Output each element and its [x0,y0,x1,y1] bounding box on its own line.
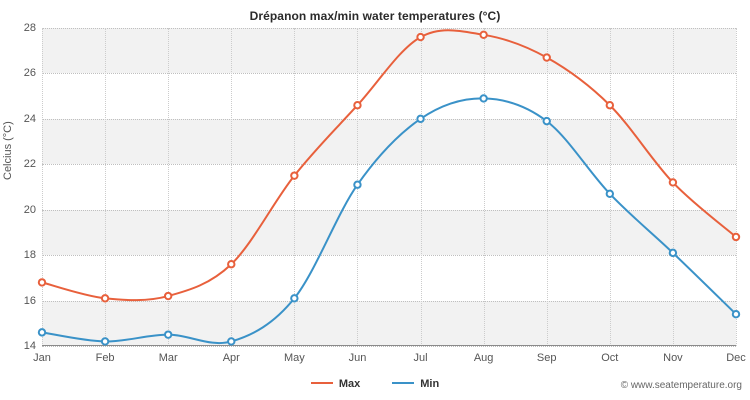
x-tick-label: May [284,352,305,364]
data-point[interactable] [733,311,739,317]
plot-area: 1416182022242628 JanFebMarAprMayJunJulAu… [42,28,736,346]
data-point[interactable] [354,102,360,108]
data-point[interactable] [102,295,108,301]
data-point[interactable] [354,182,360,188]
x-tick-label: Nov [663,352,683,364]
data-point[interactable] [544,54,550,60]
series-lines [42,28,736,346]
y-tick-label: 22 [24,158,36,170]
x-tick-label: Jun [349,352,367,364]
x-tick-label: Jul [414,352,428,364]
x-tick-label: Apr [223,352,240,364]
x-tick-label: Feb [96,352,115,364]
x-tick-label: Mar [159,352,178,364]
data-point[interactable] [291,172,297,178]
data-point[interactable] [607,191,613,197]
vertical-gridline [736,28,738,346]
data-point[interactable] [228,338,234,344]
data-point[interactable] [39,329,45,335]
legend-label: Max [339,378,360,390]
x-tick-label: Jan [33,352,51,364]
data-point[interactable] [291,295,297,301]
y-tick-label: 20 [24,204,36,216]
data-point[interactable] [670,250,676,256]
data-point[interactable] [39,279,45,285]
x-tick-label: Sep [537,352,557,364]
data-point[interactable] [544,118,550,124]
x-tick-label: Dec [726,352,746,364]
x-tick-label: Oct [601,352,618,364]
data-point[interactable] [165,293,171,299]
y-tick-label: 24 [24,113,36,125]
y-tick-label: 18 [24,249,36,261]
y-tick-label: 16 [24,295,36,307]
legend-swatch-icon [392,382,414,384]
data-point[interactable] [480,95,486,101]
legend-swatch-icon [311,382,333,384]
legend-item-max[interactable]: Max [311,378,360,390]
series-line-min [42,98,736,343]
legend-item-min[interactable]: Min [392,378,439,390]
y-tick-label: 14 [24,340,36,352]
data-point[interactable] [480,32,486,38]
y-tick-label: 28 [24,22,36,34]
series-line-max [42,30,736,300]
chart-container: Drépanon max/min water temperatures (°C)… [0,0,750,400]
data-point[interactable] [733,234,739,240]
gridline [42,346,736,348]
y-axis-label: Celcius (°C) [2,121,14,180]
y-tick-label: 26 [24,67,36,79]
credit-text: © www.seatemperature.org [621,380,742,391]
data-point[interactable] [228,261,234,267]
legend-label: Min [420,378,439,390]
chart-title: Drépanon max/min water temperatures (°C) [0,9,750,23]
data-point[interactable] [102,338,108,344]
data-point[interactable] [670,179,676,185]
data-point[interactable] [417,116,423,122]
x-tick-label: Aug [474,352,494,364]
data-point[interactable] [417,34,423,40]
data-point[interactable] [607,102,613,108]
data-point[interactable] [165,331,171,337]
